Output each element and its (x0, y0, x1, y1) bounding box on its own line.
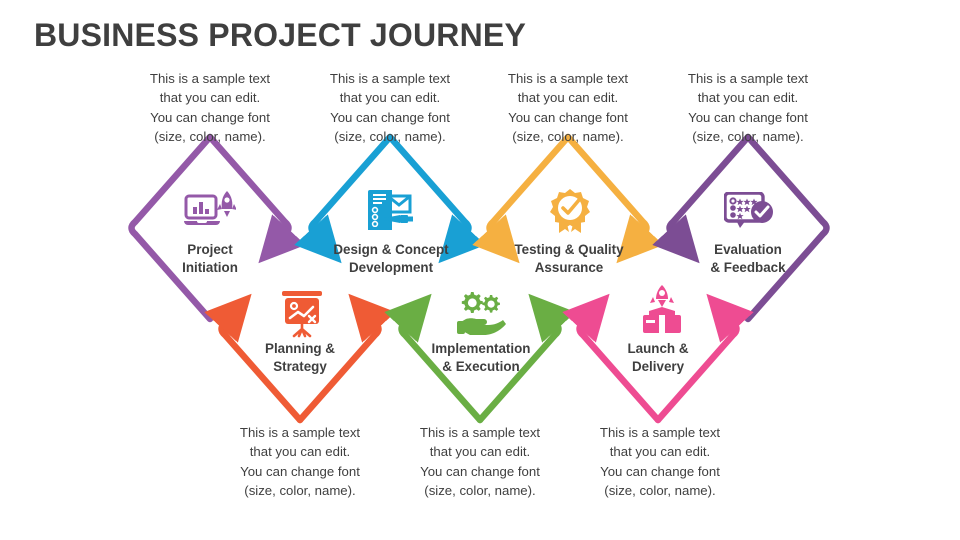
node-label-line2: & Execution (402, 358, 560, 376)
caption-line-2: that you can edit. (576, 442, 744, 461)
caption-line-3: You can change font (126, 108, 294, 127)
caption-line-2: that you can edit. (396, 442, 564, 461)
rocket-box-icon (634, 284, 690, 336)
caption-line-4: (size, color, name). (484, 127, 652, 146)
caption-line-4: (size, color, name). (576, 481, 744, 500)
caption-line-3: You can change font (484, 108, 652, 127)
node-label-evaluation-feedback: Evaluation & Feedback (673, 241, 823, 276)
caption-line-3: You can change font (664, 108, 832, 127)
caption-planning-strategy: This is a sample text that you can edit.… (216, 423, 384, 501)
caption-line-2: that you can edit. (126, 88, 294, 107)
caption-line-2: that you can edit. (306, 88, 474, 107)
caption-testing-quality-assurance: This is a sample text that you can edit.… (484, 69, 652, 147)
document-envelope-pencil-icon (362, 186, 418, 238)
laptop-rocket-icon (182, 188, 238, 240)
node-label-line2: & Feedback (673, 259, 823, 277)
caption-evaluation-feedback: This is a sample text that you can edit.… (664, 69, 832, 147)
node-label-testing-quality-assurance: Testing & Quality Assurance (491, 241, 647, 276)
caption-line-2: that you can edit. (216, 442, 384, 461)
caption-line-3: You can change font (396, 462, 564, 481)
quality-badge-check-icon (542, 186, 598, 238)
caption-line-4: (size, color, name). (216, 481, 384, 500)
node-label-line1: Design & Concept (312, 241, 470, 259)
caption-line-1: This is a sample text (306, 69, 474, 88)
caption-line-1: This is a sample text (216, 423, 384, 442)
caption-line-3: You can change font (306, 108, 474, 127)
node-label-line1: Implementation (402, 340, 560, 358)
caption-project-initiation: This is a sample text that you can edit.… (126, 69, 294, 147)
caption-line-2: that you can edit. (484, 88, 652, 107)
node-label-line2: Delivery (583, 358, 733, 376)
node-label-line1: Project (135, 241, 285, 259)
caption-line-3: You can change font (216, 462, 384, 481)
node-label-line1: Planning & (225, 340, 375, 358)
node-label-line1: Launch & (583, 340, 733, 358)
node-label-line2: Assurance (491, 259, 647, 277)
node-label-line2: Strategy (225, 358, 375, 376)
caption-line-4: (size, color, name). (396, 481, 564, 500)
caption-line-2: that you can edit. (664, 88, 832, 107)
node-label-line2: Initiation (135, 259, 285, 277)
presentation-chart-icon (274, 288, 330, 340)
caption-line-1: This is a sample text (484, 69, 652, 88)
node-label-project-initiation: Project Initiation (135, 241, 285, 276)
node-label-line1: Testing & Quality (491, 241, 647, 259)
caption-implementation-execution: This is a sample text that you can edit.… (396, 423, 564, 501)
node-label-implementation-execution: Implementation & Execution (402, 340, 560, 375)
caption-launch-delivery: This is a sample text that you can edit.… (576, 423, 744, 501)
caption-line-3: You can change font (576, 462, 744, 481)
node-label-design-concept-development: Design & Concept Development (312, 241, 470, 276)
feedback-rating-icon (722, 188, 778, 240)
node-label-launch-delivery: Launch & Delivery (583, 340, 733, 375)
slide-canvas: BUSINESS PROJECT JOURNEY (0, 0, 960, 540)
caption-line-1: This is a sample text (664, 69, 832, 88)
node-label-planning-strategy: Planning & Strategy (225, 340, 375, 375)
caption-design-concept-development: This is a sample text that you can edit.… (306, 69, 474, 147)
caption-line-1: This is a sample text (396, 423, 564, 442)
caption-line-4: (size, color, name). (306, 127, 474, 146)
caption-line-4: (size, color, name). (664, 127, 832, 146)
caption-line-1: This is a sample text (576, 423, 744, 442)
node-label-line2: Development (312, 259, 470, 277)
page-title: BUSINESS PROJECT JOURNEY (34, 17, 526, 54)
hand-gears-icon (454, 288, 510, 340)
caption-line-4: (size, color, name). (126, 127, 294, 146)
caption-line-1: This is a sample text (126, 69, 294, 88)
node-label-line1: Evaluation (673, 241, 823, 259)
